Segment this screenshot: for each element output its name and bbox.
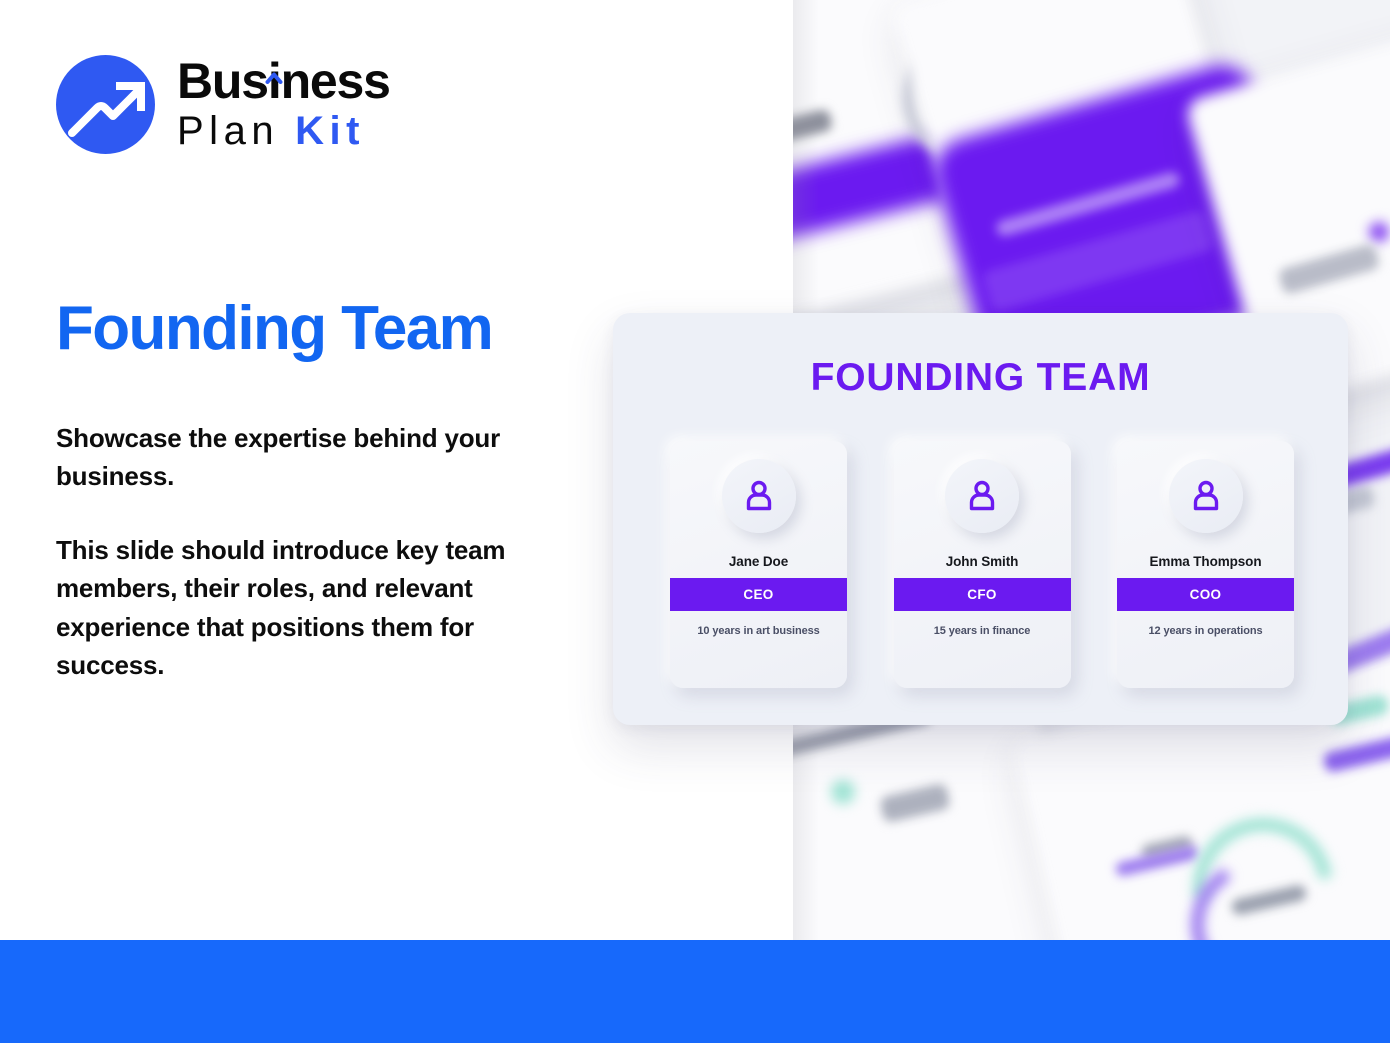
- brand-name-part-after: ness: [281, 53, 390, 109]
- avatar: [722, 459, 796, 533]
- member-role-badge: CEO: [670, 578, 847, 611]
- trending-up-arrow-icon: [56, 55, 155, 154]
- brand-name-plan: Plan: [177, 109, 279, 153]
- brand-name-line-1: Business: [177, 56, 390, 106]
- founding-team-slide-card[interactable]: FOUNDING TEAM Jane Doe CEO 10 years in a…: [613, 313, 1348, 725]
- member-experience: 10 years in art business: [670, 625, 847, 637]
- brand-name-line-2: PlanKit: [177, 109, 390, 153]
- slide-preview-page: Business PlanKit Founding Team Showcase …: [0, 0, 1390, 1043]
- brand-name-part-before: Bus: [177, 53, 268, 109]
- slide-heading: FOUNDING TEAM: [613, 356, 1348, 400]
- member-experience: 12 years in operations: [1117, 625, 1294, 637]
- brand-logo[interactable]: Business PlanKit: [56, 55, 390, 154]
- page-title: Founding Team: [56, 296, 492, 361]
- person-icon: [1188, 478, 1224, 514]
- body-paragraph: This slide should introduce key team mem…: [56, 531, 576, 685]
- member-role-badge: COO: [1117, 578, 1294, 611]
- member-name: Emma Thompson: [1117, 554, 1294, 569]
- team-member-list: Jane Doe CEO 10 years in art business Jo…: [670, 441, 1294, 688]
- member-name: John Smith: [894, 554, 1071, 569]
- chevron-up-accent-icon: [266, 42, 283, 54]
- backdrop-dot: [831, 780, 855, 804]
- team-member-card[interactable]: Emma Thompson COO 12 years in operations: [1117, 441, 1294, 688]
- person-icon: [964, 478, 1000, 514]
- avatar: [945, 459, 1019, 533]
- brand-name-letter-i: i: [268, 56, 281, 106]
- member-experience: 15 years in finance: [894, 625, 1071, 637]
- brand-name-kit: Kit: [295, 109, 365, 153]
- brand-wordmark: Business PlanKit: [177, 56, 390, 153]
- lead-paragraph: Showcase the expertise behind your busin…: [56, 419, 576, 496]
- person-icon: [741, 478, 777, 514]
- member-name: Jane Doe: [670, 554, 847, 569]
- team-member-card[interactable]: John Smith CFO 15 years in finance: [894, 441, 1071, 688]
- avatar: [1169, 459, 1243, 533]
- footer-bar: [0, 940, 1390, 1043]
- member-role-badge: CFO: [894, 578, 1071, 611]
- team-member-card[interactable]: Jane Doe CEO 10 years in art business: [670, 441, 847, 688]
